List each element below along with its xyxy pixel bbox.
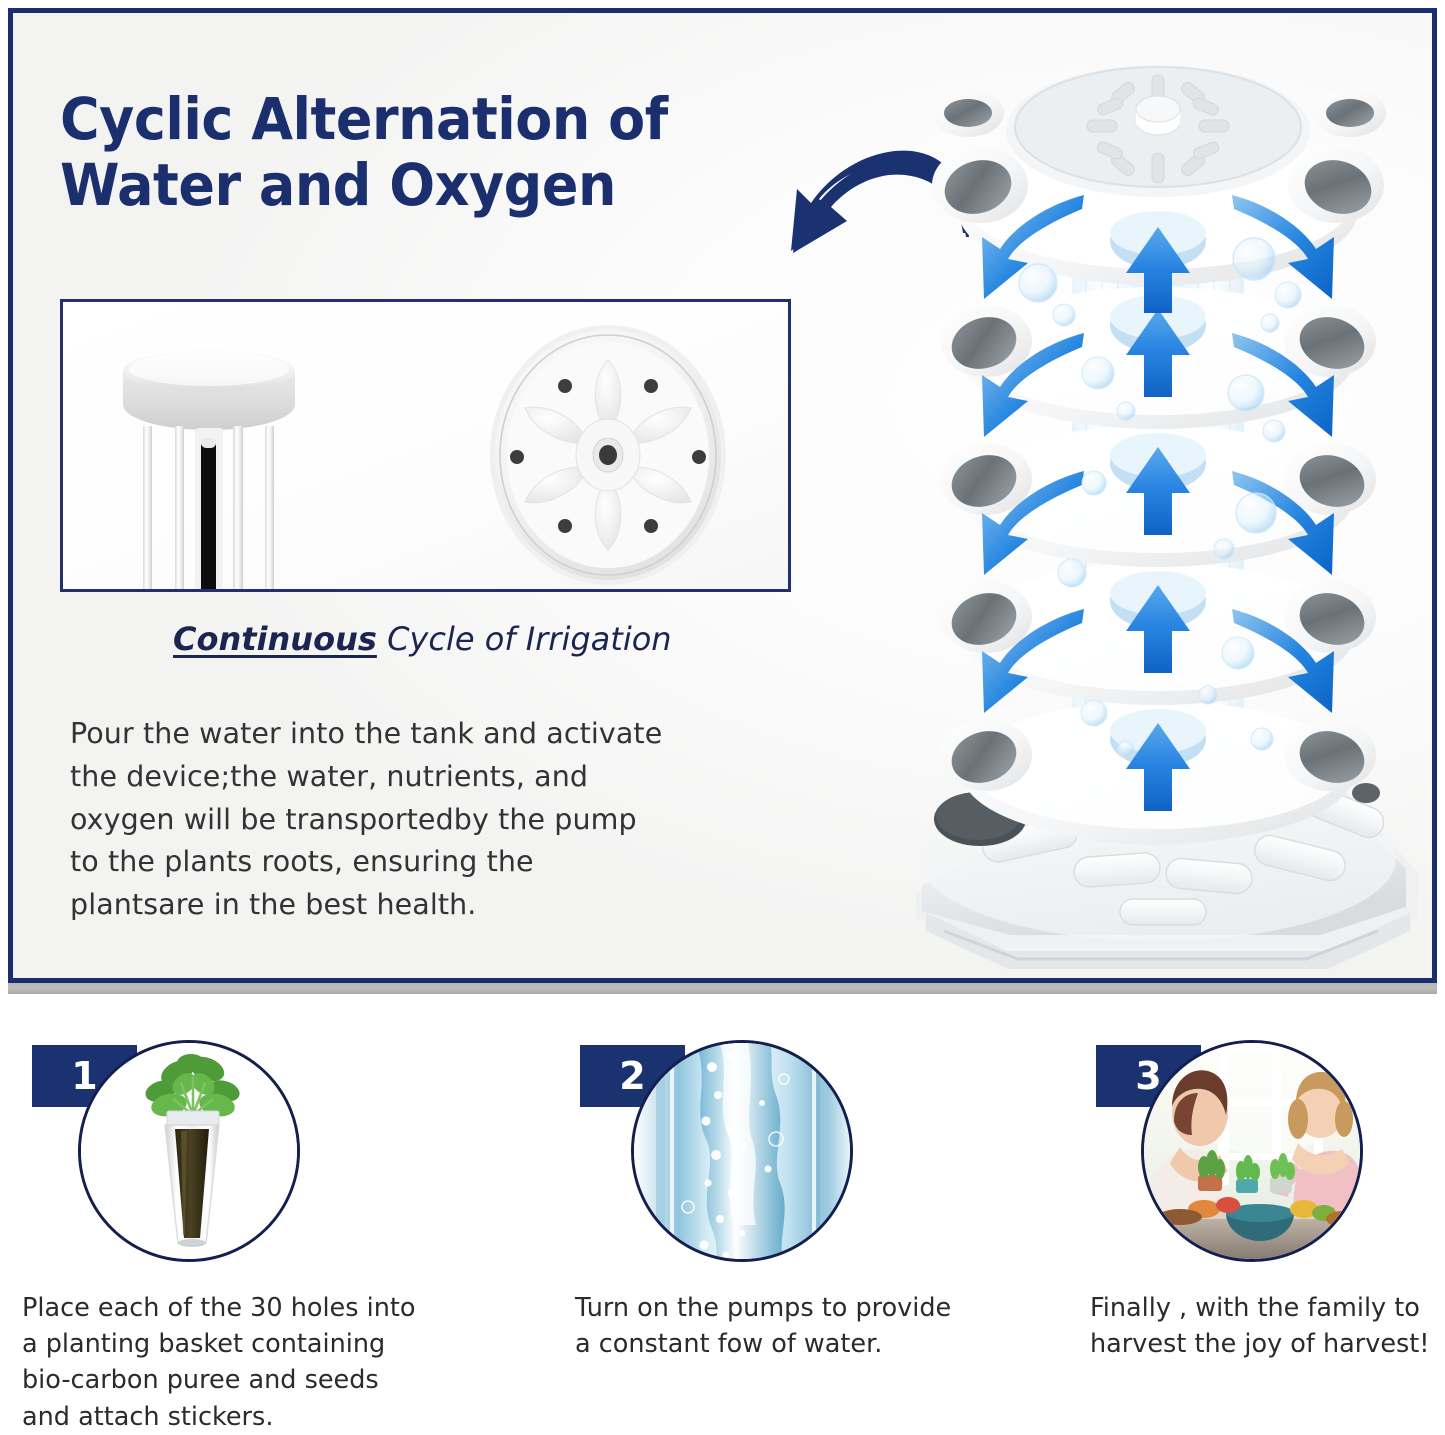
step-item: 2: [553, 1040, 1043, 1262]
step-item: 1: [0, 1040, 490, 1262]
step-caption: Turn on the pumps to provide a constant …: [575, 1290, 1040, 1362]
inset-photo-box: [60, 299, 791, 592]
flowing-water-in-tube-photo: [631, 1040, 853, 1262]
shelf-line: [8, 983, 1437, 994]
caption-rest: Cycle of Irrigation: [377, 620, 672, 658]
pump-cap-with-tubes-photo: [113, 338, 343, 592]
inset-caption: Continuous Cycle of Irrigation: [173, 620, 672, 658]
sprinkler-disc-photo: [473, 320, 743, 590]
step-item: 3: [1068, 1040, 1445, 1262]
step-caption: Finally , with the family to harvest the…: [1090, 1290, 1445, 1362]
step-media: 3: [1068, 1040, 1445, 1262]
hydroponic-tower-diagram: [858, 13, 1437, 983]
page-title: Cyclic Alternation of Water and Oxygen: [60, 87, 730, 218]
step-media: 1: [0, 1040, 490, 1262]
family-harvest-kitchen-photo: [1141, 1040, 1363, 1262]
step-media: 2: [553, 1040, 1043, 1262]
feature-panel: Cyclic Alternation of Water and Oxygen: [8, 8, 1437, 983]
seedling-in-basket-photo: [78, 1040, 300, 1262]
body-paragraph: Pour the water into the tank and activat…: [70, 713, 800, 927]
step-caption: Place each of the 30 holes into a planti…: [22, 1290, 487, 1435]
caption-emphasis: Continuous: [173, 620, 377, 658]
